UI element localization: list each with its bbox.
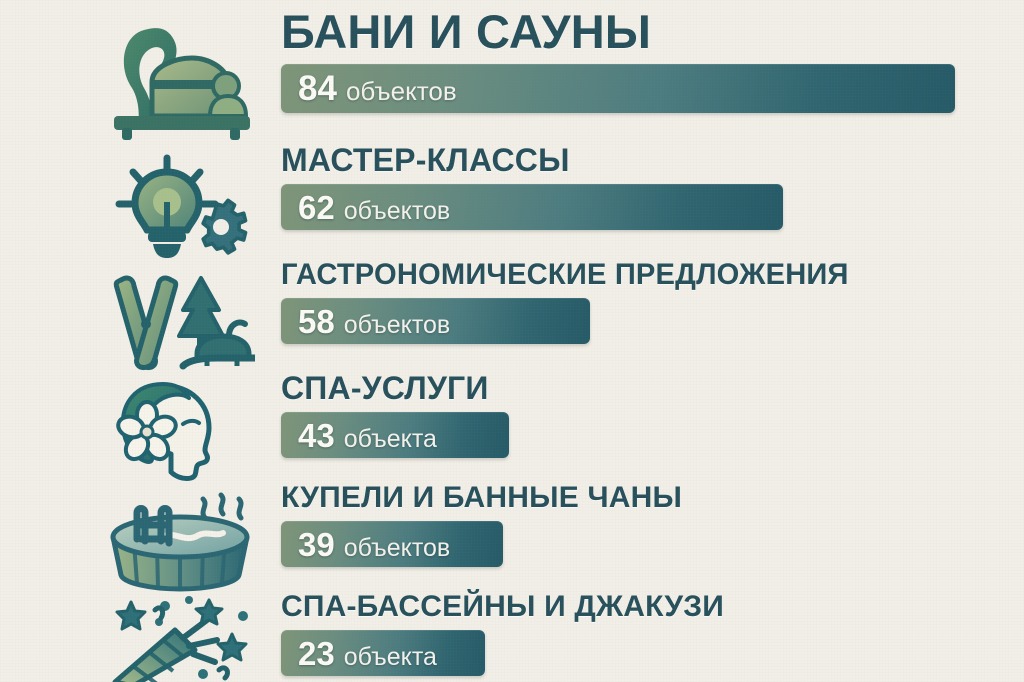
bar-value: 39 — [298, 528, 335, 561]
bar-label: 84 объектов — [281, 71, 457, 106]
bar-unit: объектов — [344, 313, 451, 338]
row-heading: МАСТЕР-КЛАССЫ — [281, 144, 1024, 176]
bar-label: 39 объектов — [281, 528, 450, 561]
bar-label: 23 объекта — [281, 637, 437, 670]
value-bar: 62 объектов — [281, 184, 783, 230]
bar-value: 23 — [298, 637, 335, 670]
bar-unit: объектов — [346, 78, 457, 104]
party-popper-icon — [96, 596, 264, 682]
bar-unit: объекта — [344, 427, 437, 452]
row-heading: СПА-УСЛУГИ — [281, 372, 1024, 404]
bar-label: 43 объекта — [281, 419, 437, 452]
bar-value: 62 — [298, 191, 335, 224]
bar-unit: объектов — [344, 536, 451, 561]
bar-value: 43 — [298, 419, 335, 452]
bar-label: 62 объектов — [281, 191, 450, 224]
bar-unit: объектов — [344, 199, 451, 224]
row-content: КУПЕЛИ И БАННЫЕ ЧАНЫ 39 объектов — [281, 483, 1024, 567]
value-bar: 84 объектов — [281, 64, 955, 113]
bar-unit: объекта — [344, 645, 437, 670]
infographic-chart: БАНИ И САУНЫ 84 объектов — [0, 0, 1024, 682]
value-bar: 23 объекта — [281, 630, 485, 676]
row-heading: КУПЕЛИ И БАННЫЕ ЧАНЫ — [281, 483, 1024, 513]
value-bar: 58 объектов — [281, 298, 590, 344]
row-content: МАСТЕР-КЛАССЫ 62 объектов — [281, 144, 1024, 230]
value-bar: 39 объектов — [281, 521, 503, 567]
row-content: СПА-УСЛУГИ 43 объекта — [281, 372, 1024, 458]
hot-tub-icon — [96, 487, 264, 595]
row-content: ГАСТРОНОМИЧЕСКИЕ ПРЕДЛОЖЕНИЯ 58 объектов — [281, 260, 1024, 344]
row-heading: БАНИ И САУНЫ — [281, 8, 1024, 55]
row-content: СПА-БАССЕЙНЫ И ДЖАКУЗИ 23 объекта — [281, 592, 1024, 676]
bar-label: 58 объектов — [281, 305, 450, 338]
row-content: БАНИ И САУНЫ 84 объектов — [281, 8, 1024, 113]
bar-value: 84 — [298, 71, 337, 106]
spa-woman-profile-icon — [96, 376, 264, 486]
bar-value: 58 — [298, 305, 335, 338]
skis-snowmobile-icon — [96, 266, 264, 378]
value-bar: 43 объекта — [281, 412, 509, 458]
row-heading: ГАСТРОНОМИЧЕСКИЕ ПРЕДЛОЖЕНИЯ — [281, 260, 1002, 290]
row-heading: СПА-БАССЕЙНЫ И ДЖАКУЗИ — [281, 592, 1024, 622]
sauna-stove-icon — [96, 16, 264, 142]
lightbulb-gear-icon — [96, 150, 264, 266]
